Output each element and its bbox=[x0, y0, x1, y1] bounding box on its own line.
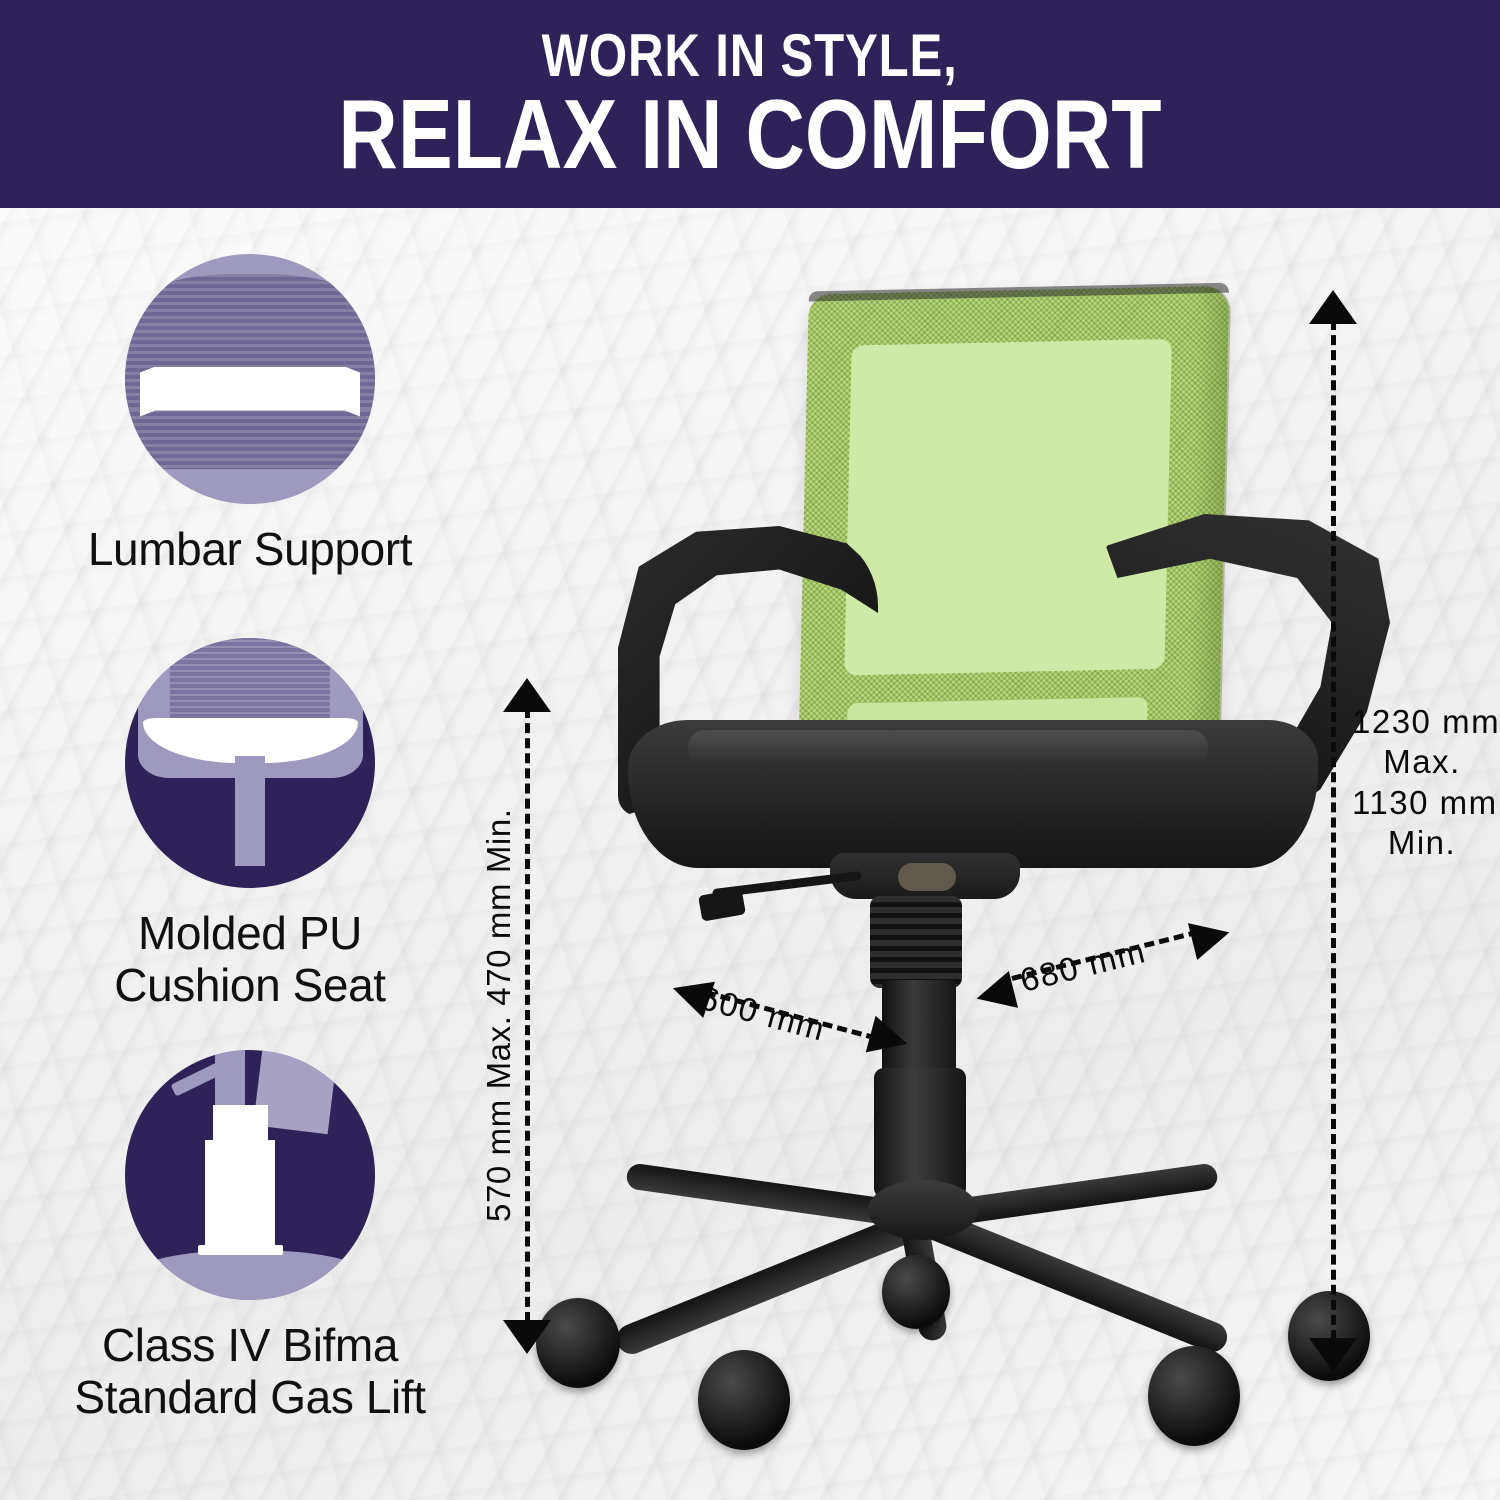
feature-label-gas-lift-line1: Class IV Bifma bbox=[74, 1320, 425, 1372]
chair-caster-left-front bbox=[698, 1350, 790, 1450]
feature-item-lumbar-support: Lumbar Support bbox=[0, 254, 500, 576]
banner-headline-line1: WORK IN STYLE, bbox=[542, 25, 958, 86]
infographic-page: WORK IN STYLE, RELAX IN COMFORT Lumbar S… bbox=[0, 0, 1500, 1500]
chair-mechanism-cap bbox=[898, 863, 956, 891]
feature-label-cushion-seat-line1: Molded PU bbox=[114, 908, 385, 960]
molded-pu-cushion-seat-icon bbox=[125, 638, 375, 888]
banner-headline-line2: RELAX IN COMFORT bbox=[338, 85, 1161, 183]
chair-gas-cylinder-lower bbox=[874, 1068, 966, 1198]
lumbar-support-icon bbox=[125, 254, 375, 504]
chair-gas-cylinder-bellow bbox=[870, 896, 962, 988]
dim-height-max-word: Max. bbox=[1352, 742, 1492, 782]
dimension-line-vertical-right bbox=[1331, 320, 1336, 1340]
feature-label-lumbar-support: Lumbar Support bbox=[88, 524, 412, 576]
dim-height-max-value: 1230 mm bbox=[1352, 702, 1492, 742]
feature-item-cushion-seat: Molded PU Cushion Seat bbox=[0, 638, 500, 1012]
feature-label-gas-lift: Class IV Bifma Standard Gas Lift bbox=[74, 1320, 425, 1424]
dim-height-min-word: Min. bbox=[1352, 823, 1492, 863]
chair-seat-cushion bbox=[628, 720, 1318, 868]
feature-label-cushion-seat: Molded PU Cushion Seat bbox=[114, 908, 385, 1012]
chair-caster-center-back bbox=[882, 1255, 950, 1329]
arrow-down-icon bbox=[1309, 1338, 1357, 1372]
gas-lift-icon bbox=[125, 1050, 375, 1300]
dimension-label-seat-height: 570 mm Max. 470 mm Min. bbox=[480, 808, 518, 1222]
dimension-label-overall-height: 1230 mm Max. 1130 mm Min. bbox=[1352, 702, 1492, 863]
arrow-up-icon bbox=[1309, 290, 1357, 324]
feature-list: Lumbar Support Molded PU Cushion Seat bbox=[0, 232, 500, 1500]
arrow-down-icon-left bbox=[503, 1320, 551, 1354]
dim-height-min-value: 1130 mm bbox=[1352, 783, 1492, 823]
product-image-office-chair bbox=[500, 208, 1380, 1500]
feature-item-gas-lift: Class IV Bifma Standard Gas Lift bbox=[0, 1050, 500, 1424]
dimension-line-vertical-left bbox=[525, 708, 530, 1322]
chair-lever-knob bbox=[698, 888, 746, 921]
feature-label-cushion-seat-line2: Cushion Seat bbox=[114, 960, 385, 1012]
header-banner: WORK IN STYLE, RELAX IN COMFORT bbox=[0, 0, 1500, 208]
chair-caster-right-front bbox=[1148, 1346, 1240, 1446]
chair-base-hub bbox=[868, 1180, 978, 1240]
arrow-up-icon-left bbox=[503, 678, 551, 712]
feature-label-gas-lift-line2: Standard Gas Lift bbox=[74, 1372, 425, 1424]
